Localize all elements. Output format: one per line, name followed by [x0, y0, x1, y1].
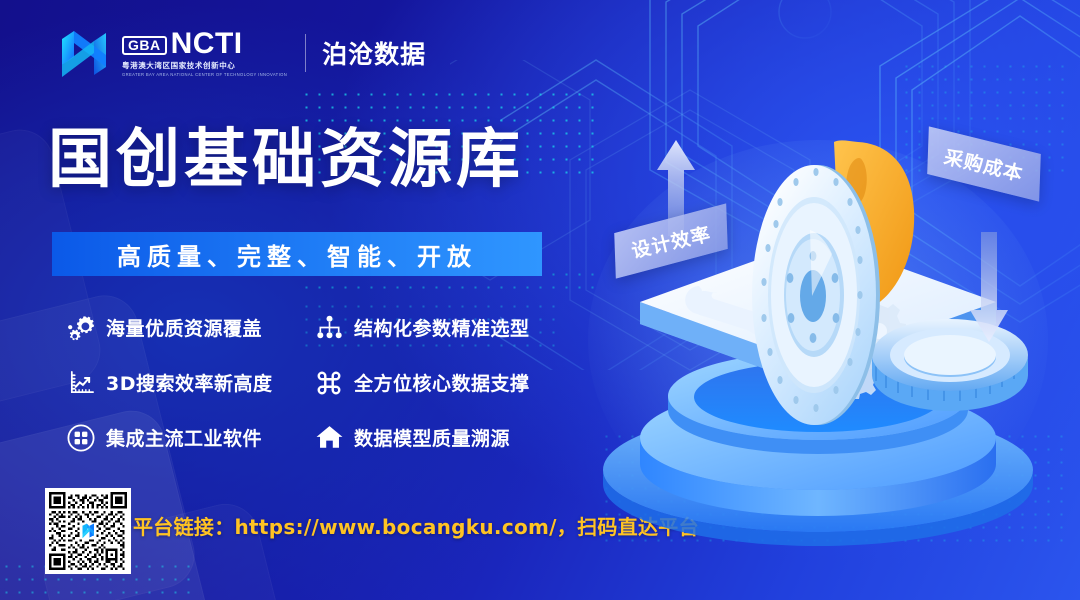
feature-label-1: 结构化参数精准选型 — [354, 314, 530, 341]
qr-code-image — [49, 492, 127, 570]
ncti-text: NCTI — [171, 30, 243, 58]
subtitle-bar: 高质量、完整、智能、开放 — [52, 232, 542, 276]
feature-label-0: 海量优质资源覆盖 — [106, 314, 262, 341]
brand-name-cn: 泊沧数据 — [322, 35, 426, 71]
feature-label-4: 集成主流工业软件 — [106, 424, 262, 451]
feature-label-3: 全方位核心数据支撑 — [354, 369, 530, 396]
feature-item-3: 全方位核心数据支撑 — [314, 355, 566, 410]
gba-badge: GBA — [122, 36, 167, 55]
org-name-en: GREATER BAY AREA NATIONAL CENTER OF TECH… — [122, 72, 287, 77]
gears-icon — [66, 313, 96, 343]
chart-growth-icon — [66, 368, 96, 398]
feature-label-5: 数据模型质量溯源 — [354, 424, 510, 451]
ncti-title-row: GBA NCTI — [122, 30, 287, 58]
header-divider — [305, 34, 306, 72]
page-title: 国创基础资源库 — [48, 108, 524, 200]
command-loop-icon — [314, 368, 344, 398]
subtitle-text: 高质量、完整、智能、开放 — [117, 237, 477, 272]
callout-procurement-cost-label: 采购成本 — [942, 142, 1027, 186]
promo-banner: GBA NCTI 粤港澳大湾区国家技术创新中心 GREATER BAY AREA… — [0, 0, 1080, 600]
feature-item-5: 数据模型质量溯源 — [314, 410, 566, 465]
hierarchy-icon — [314, 313, 344, 343]
feature-label-2: 3D搜索效率新高度 — [106, 369, 273, 396]
feature-item-0: 海量优质资源覆盖 — [66, 300, 314, 355]
feature-list: 海量优质资源覆盖 结构化参数精准选型 — [66, 300, 566, 465]
logo-wordmark: GBA NCTI 粤港澳大湾区国家技术创新中心 GREATER BAY AREA… — [122, 30, 287, 77]
grid-circle-icon — [66, 423, 96, 453]
feature-item-1: 结构化参数精准选型 — [314, 300, 566, 355]
ncti-n-logo-icon — [58, 27, 110, 79]
qr-code[interactable] — [45, 488, 131, 574]
feature-item-4: 集成主流工业软件 — [66, 410, 314, 465]
org-name-cn: 粤港澳大湾区国家技术创新中心 — [122, 60, 287, 71]
brand-header: GBA NCTI 粤港澳大湾区国家技术创新中心 GREATER BAY AREA… — [58, 26, 426, 80]
home-icon — [314, 423, 344, 453]
arrow-down-icon — [968, 232, 1010, 342]
feature-item-2: 3D搜索效率新高度 — [66, 355, 314, 410]
